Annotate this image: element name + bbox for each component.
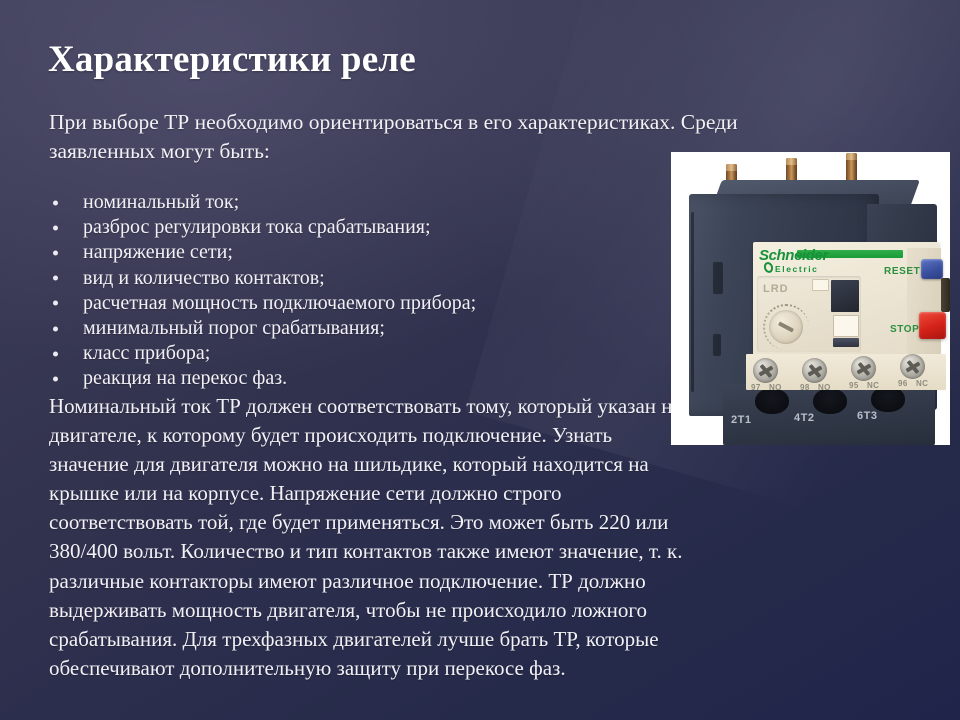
relay-photo: 2T1 4T2 6T3 Schneider Electric LRD RESET (671, 152, 950, 445)
list-item: расчетная мощность подключаемого прибора… (49, 291, 649, 316)
reset-button[interactable] (921, 259, 943, 279)
list-item: номинальный ток; (49, 190, 649, 215)
power-terminal-label: 6T3 (857, 410, 877, 422)
bullet-icon (53, 377, 58, 382)
terminal-type: NO (818, 383, 831, 392)
mode-selector[interactable] (833, 338, 859, 347)
indicator-window (831, 280, 859, 312)
terminal-screw[interactable] (753, 358, 778, 383)
power-terminal-label: 2T1 (731, 414, 751, 426)
bullet-icon (53, 326, 58, 331)
body-paragraph: Номинальный ток ТР должен соответствоват… (49, 392, 689, 683)
power-terminal-label: 4T2 (794, 412, 814, 424)
stop-button[interactable] (919, 312, 946, 339)
terminal-number: 95 (849, 381, 859, 390)
list-item-label: разброс регулировки тока срабатывания; (83, 216, 431, 238)
list-item-label: реакция на перекос фаз. (83, 367, 287, 389)
indicator-tab (812, 279, 829, 291)
slide-content: Характеристики реле При выборе ТР необхо… (0, 0, 960, 720)
list-item-label: номинальный ток; (83, 191, 239, 213)
list-item-label: расчетная мощность подключаемого прибора… (83, 292, 476, 314)
characteristics-list: номинальный ток; разброс регулировки ток… (49, 190, 649, 392)
bullet-icon (53, 251, 58, 256)
terminal-screw[interactable] (851, 356, 876, 381)
test-switch[interactable] (833, 315, 859, 337)
side-clip (941, 278, 950, 312)
bullet-icon (53, 276, 58, 281)
list-item: напряжение сети; (49, 240, 649, 265)
terminal-type: NC (916, 379, 928, 388)
reset-label: RESET (884, 266, 920, 277)
brand-name: Schneider (759, 248, 828, 263)
list-item: реакция на перекос фаз. (49, 366, 649, 391)
housing-groove (691, 212, 694, 392)
relay-illustration: 2T1 4T2 6T3 Schneider Electric LRD RESET (671, 152, 950, 445)
list-item-label: напряжение сети; (83, 241, 233, 263)
list-item: минимальный порог срабатывания; (49, 316, 649, 341)
list-item-label: класс прибора; (83, 342, 210, 364)
list-item-label: минимальный порог срабатывания; (83, 317, 385, 339)
bullet-icon (53, 301, 58, 306)
current-adjustment-dial[interactable] (769, 310, 803, 344)
bullet-icon (53, 225, 58, 230)
housing-groove (713, 334, 721, 356)
terminal-screw[interactable] (900, 354, 925, 379)
terminal-screw[interactable] (802, 358, 827, 383)
terminal-number: 97 (751, 383, 761, 392)
list-item-label: вид и количество контактов; (83, 267, 325, 289)
list-item: разброс регулировки тока срабатывания; (49, 215, 649, 240)
terminal-type: NC (867, 381, 879, 390)
model-label: LRD (763, 283, 789, 295)
housing-groove (713, 262, 723, 294)
terminal-type: NO (769, 383, 782, 392)
stop-label: STOP (890, 324, 919, 335)
bullet-icon (53, 351, 58, 356)
page-title: Характеристики реле (48, 38, 416, 81)
list-item: вид и количество контактов; (49, 266, 649, 291)
brand-subtitle: Electric (775, 264, 819, 274)
terminal-number: 96 (898, 379, 908, 388)
slide-background: Характеристики реле При выборе ТР необхо… (0, 0, 960, 720)
terminal-number: 98 (800, 383, 810, 392)
list-item: класс прибора; (49, 341, 649, 366)
bullet-icon (53, 200, 58, 205)
